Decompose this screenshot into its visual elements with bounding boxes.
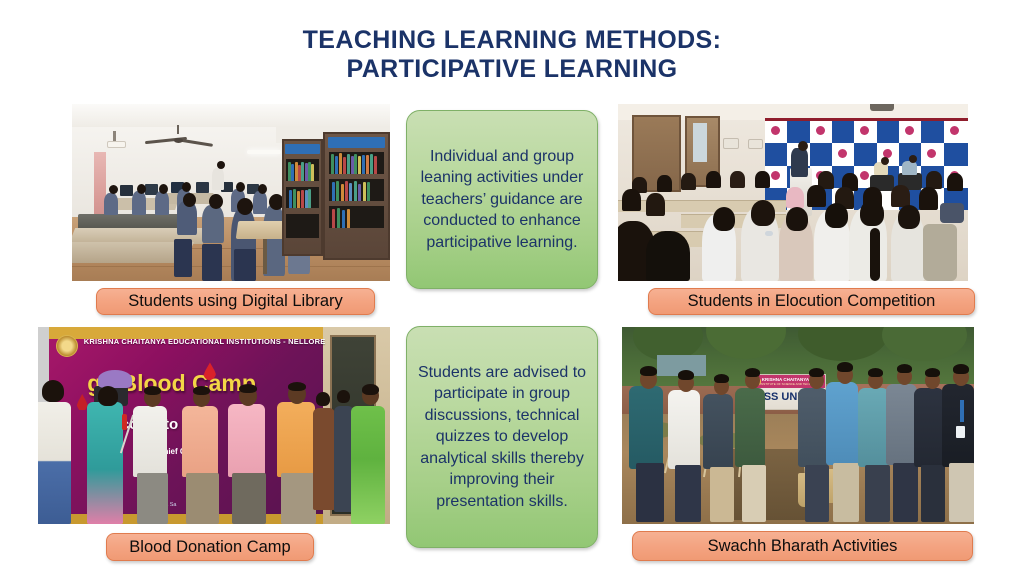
bookshelf-label bbox=[328, 137, 386, 148]
id-card bbox=[956, 426, 965, 438]
student-head bbox=[258, 184, 267, 194]
audience-student-hair bbox=[825, 203, 848, 228]
student-legs bbox=[893, 463, 918, 522]
student-legs bbox=[710, 467, 734, 522]
bookshelf-slot bbox=[329, 179, 384, 201]
onlooker-hair bbox=[316, 392, 330, 406]
caption-digital-library: Students using Digital Library bbox=[96, 288, 375, 315]
speaker-figure bbox=[791, 148, 808, 176]
chair bbox=[202, 244, 222, 281]
student-figure bbox=[798, 388, 828, 467]
student-hair bbox=[745, 368, 760, 377]
student-hair bbox=[925, 368, 940, 377]
page-title-line-2: PARTICIPATIVE LEARNING bbox=[0, 55, 1024, 84]
onlooker-figure bbox=[313, 408, 335, 510]
student-figure bbox=[104, 193, 118, 215]
seated-guest-head bbox=[909, 155, 917, 163]
caption-swachh-bharath-activities: Swachh Bharath Activities bbox=[632, 531, 973, 561]
dignitary-trousers bbox=[281, 473, 316, 524]
caption-elocution-competition-text: Students in Elocution Competition bbox=[688, 292, 936, 311]
backpack bbox=[923, 224, 957, 281]
audience-student bbox=[730, 171, 745, 188]
bookshelf bbox=[323, 132, 390, 259]
ceiling-fan-rod-icon bbox=[177, 125, 179, 134]
student-head bbox=[183, 193, 196, 207]
student-legs bbox=[833, 463, 859, 522]
bookshelf bbox=[282, 139, 323, 256]
student-hair bbox=[714, 374, 729, 383]
lady-in-saree-figure bbox=[351, 406, 385, 524]
student-hair bbox=[868, 368, 883, 377]
dignitary-hair bbox=[144, 386, 161, 395]
student-head bbox=[182, 182, 191, 192]
tube-light-icon bbox=[247, 150, 281, 154]
photo-swachh-bharath-activities: KRISHNA CHAITANYA INSTITUTE OF SCIENCE A… bbox=[622, 327, 974, 524]
backdrop-logo-tile bbox=[787, 121, 809, 143]
student-head bbox=[137, 184, 146, 194]
student-figure bbox=[826, 382, 858, 465]
microphone-icon bbox=[122, 414, 127, 430]
teacher-head bbox=[217, 161, 225, 169]
student-head bbox=[209, 194, 223, 209]
student-hair bbox=[953, 364, 969, 374]
banner-institution-text: KRISHNA CHAITANYA EDUCATIONAL INSTITUTIO… bbox=[84, 337, 316, 346]
projector-icon bbox=[870, 104, 894, 111]
dignitary-trousers bbox=[137, 473, 168, 524]
student-hair bbox=[837, 362, 853, 372]
audience-student bbox=[706, 171, 721, 188]
page-title: TEACHING LEARNING METHODS: PARTICIPATIVE… bbox=[0, 26, 1024, 84]
student-legs bbox=[805, 465, 829, 522]
library-ceiling bbox=[72, 104, 390, 127]
photo-elocution-competition bbox=[618, 104, 968, 281]
camera-cover bbox=[98, 370, 132, 388]
lady-hair bbox=[362, 384, 379, 395]
slide-canvas: TEACHING LEARNING METHODS: PARTICIPATIVE… bbox=[0, 0, 1024, 576]
audience-student-hair bbox=[786, 207, 808, 231]
teacher-figure bbox=[212, 168, 224, 190]
bookshelf-label bbox=[285, 144, 319, 154]
audience-student-braid bbox=[870, 228, 880, 281]
photo-digital-library bbox=[72, 104, 390, 281]
student-figure bbox=[629, 386, 663, 469]
bookshelf-slot bbox=[286, 214, 319, 239]
audience-student bbox=[755, 171, 770, 188]
student-legs bbox=[675, 465, 701, 522]
onlooker-hair bbox=[337, 390, 350, 403]
door-glass-panel bbox=[693, 123, 707, 162]
backdrop-logo-tile bbox=[877, 121, 899, 143]
reporter-hair bbox=[98, 386, 118, 406]
student-figure bbox=[132, 191, 146, 215]
caption-digital-library-text: Students using Digital Library bbox=[128, 292, 343, 311]
dignitary-figure bbox=[228, 404, 265, 477]
student-hair bbox=[640, 366, 657, 376]
id-card-lanyard bbox=[960, 400, 964, 422]
student-hair bbox=[897, 364, 912, 373]
wall-ac-unit-icon bbox=[723, 138, 739, 149]
audience-student-hair bbox=[898, 205, 920, 229]
student-legs bbox=[949, 463, 974, 522]
participative-learning-description-box: Individual and group leaning activities … bbox=[406, 110, 598, 289]
student-legs bbox=[742, 465, 766, 522]
audience-student bbox=[622, 189, 641, 211]
student-figure bbox=[886, 384, 917, 465]
dignitary-figure bbox=[133, 406, 167, 477]
student-figure bbox=[914, 388, 944, 467]
chair bbox=[174, 239, 192, 278]
bookshelf-slot bbox=[329, 152, 384, 174]
backdrop-logo-tile bbox=[765, 143, 787, 165]
audience-student bbox=[919, 187, 938, 210]
institution-emblem-icon bbox=[838, 149, 847, 158]
dignitary-hair bbox=[288, 382, 306, 391]
dignitary-hair bbox=[193, 386, 210, 395]
dignitary-figure bbox=[277, 402, 315, 477]
group-discussion-description-text: Students are advised to participate in g… bbox=[417, 362, 587, 513]
bookshelf-slot bbox=[286, 187, 319, 208]
caption-elocution-competition: Students in Elocution Competition bbox=[648, 288, 975, 315]
student-figure bbox=[155, 191, 169, 215]
wall-lamp-icon bbox=[107, 141, 126, 148]
student-figure bbox=[703, 394, 733, 469]
student-figure bbox=[735, 388, 765, 467]
student-head bbox=[236, 182, 245, 192]
student-figure bbox=[668, 390, 700, 469]
reporter-figure bbox=[87, 402, 123, 524]
bookshelf-slot bbox=[286, 159, 319, 180]
student-head bbox=[109, 185, 118, 194]
student-hair bbox=[678, 370, 694, 380]
seated-guest-head bbox=[881, 157, 889, 165]
cameraman-figure bbox=[38, 402, 71, 524]
caption-swachh-bharath-activities-text: Swachh Bharath Activities bbox=[708, 537, 898, 556]
audience-student bbox=[786, 187, 804, 208]
backdrop-logo-tile bbox=[832, 121, 854, 143]
student-legs bbox=[921, 465, 945, 522]
computer-monitor bbox=[120, 185, 133, 196]
audience-student bbox=[646, 193, 665, 216]
student-hair bbox=[809, 368, 824, 377]
student-figure bbox=[202, 205, 224, 243]
wall-ac-unit-icon bbox=[748, 139, 763, 149]
chair bbox=[234, 249, 256, 281]
participative-learning-description-text: Individual and group leaning activities … bbox=[417, 146, 587, 254]
photo-blood-donation-camp: KRISHNA CHAITANYA EDUCATIONAL INSTITUTIO… bbox=[38, 327, 390, 524]
bookshelf-slot bbox=[329, 206, 384, 228]
institution-emblem-icon bbox=[771, 171, 780, 180]
audience-student-hair bbox=[713, 207, 735, 231]
group-discussion-description-box: Students are advised to participate in g… bbox=[406, 326, 598, 548]
backpack bbox=[940, 203, 964, 223]
ceiling-fan-hub-icon bbox=[174, 138, 183, 143]
student-legs bbox=[636, 463, 664, 522]
backdrop-logo-tile bbox=[944, 143, 968, 165]
audience-student-hair bbox=[860, 200, 884, 226]
caption-blood-donation-camp-text: Blood Donation Camp bbox=[129, 538, 290, 557]
dignitary-trousers bbox=[232, 473, 266, 524]
computer-monitor bbox=[196, 182, 209, 193]
caption-blood-donation-camp: Blood Donation Camp bbox=[106, 533, 314, 561]
audience-student bbox=[657, 175, 672, 192]
dignitary-trousers bbox=[186, 473, 219, 524]
institution-emblem-icon bbox=[56, 335, 78, 357]
student-figure bbox=[858, 388, 889, 467]
student-legs bbox=[865, 465, 890, 522]
backdrop-logo-tile bbox=[921, 121, 943, 143]
dignitary-figure bbox=[182, 406, 218, 477]
audience-student bbox=[681, 173, 696, 190]
audience-student bbox=[646, 231, 690, 281]
backdrop-logo-tile bbox=[810, 143, 832, 165]
cameraman-hair bbox=[42, 380, 64, 402]
reading-table-leg bbox=[263, 239, 267, 274]
audience-student bbox=[947, 173, 963, 191]
backdrop-logo-tile bbox=[854, 143, 876, 165]
page-title-line-1: TEACHING LEARNING METHODS: bbox=[0, 26, 1024, 55]
dignitary-hair bbox=[239, 384, 257, 393]
audience-student-hair bbox=[751, 200, 775, 226]
audience-student bbox=[807, 185, 826, 207]
